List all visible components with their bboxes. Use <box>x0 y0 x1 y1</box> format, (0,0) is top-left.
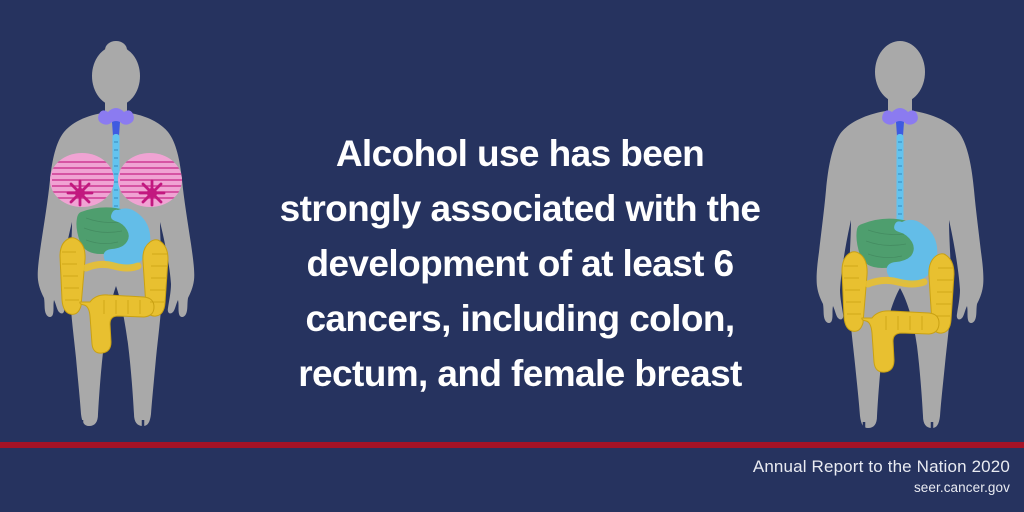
breast-right-lobules <box>140 181 164 205</box>
male-body-diagram <box>788 28 1024 438</box>
breast-right-organ <box>118 153 182 207</box>
breast-left-lobules <box>68 181 92 205</box>
headline-line-4: cancers, including colon, <box>230 291 810 346</box>
small-intestine-organ <box>86 264 138 268</box>
female-body-diagram <box>8 28 248 438</box>
headline-line-1: Alcohol use has been <box>230 126 810 181</box>
footer-report-title: Annual Report to the Nation 2020 <box>753 456 1010 478</box>
headline-line-5: rectum, and female breast <box>230 346 810 401</box>
headline-line-3: development of at least 6 <box>230 236 810 291</box>
footer: Annual Report to the Nation 2020 seer.ca… <box>753 456 1010 498</box>
breast-left-organ <box>50 153 114 207</box>
red-divider-rule <box>0 442 1024 448</box>
footer-website-url[interactable]: seer.cancer.gov <box>753 478 1010 498</box>
poster-canvas: Alcohol use has been strongly associated… <box>0 0 1024 512</box>
small-intestine-organ <box>868 280 924 284</box>
headline-text: Alcohol use has been strongly associated… <box>230 126 810 401</box>
headline-line-2: strongly associated with the <box>230 181 810 236</box>
